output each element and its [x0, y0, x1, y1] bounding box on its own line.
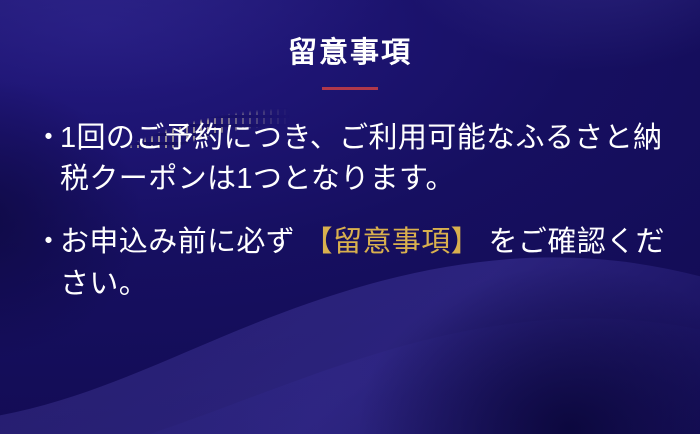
list-item-text: 1回のご予約につき、ご利用可能なふるさと納税クーポンは1つとなります。: [60, 118, 674, 200]
list-item: ・1回のご予約につき、ご利用可能なふるさと納税クーポンは1つとなります。: [34, 118, 674, 200]
page-title: 留意事項: [0, 36, 700, 71]
emphasized-text: 【留意事項】: [304, 226, 480, 258]
plain-text: お申込み前に必ず: [60, 226, 304, 258]
title-divider: [322, 87, 378, 90]
list-item: ・お申込み前に必ず 【留意事項】 をご確認ください。: [34, 222, 674, 304]
plain-text: 1回のご予約につき、ご利用可能なふるさと納税クーポンは1つとなります。: [60, 122, 663, 195]
bullet-marker-icon: ・: [34, 118, 60, 159]
banner-content: 留意事項 ・1回のご予約につき、ご利用可能なふるさと納税クーポンは1つとなります…: [0, 0, 700, 434]
notice-banner: 留意事項 ・1回のご予約につき、ご利用可能なふるさと納税クーポンは1つとなります…: [0, 0, 700, 434]
list-item-text: お申込み前に必ず 【留意事項】 をご確認ください。: [60, 222, 674, 304]
notes-list: ・1回のご予約につき、ご利用可能なふるさと納税クーポンは1つとなります。・お申込…: [34, 118, 674, 327]
bullet-marker-icon: ・: [34, 222, 60, 263]
